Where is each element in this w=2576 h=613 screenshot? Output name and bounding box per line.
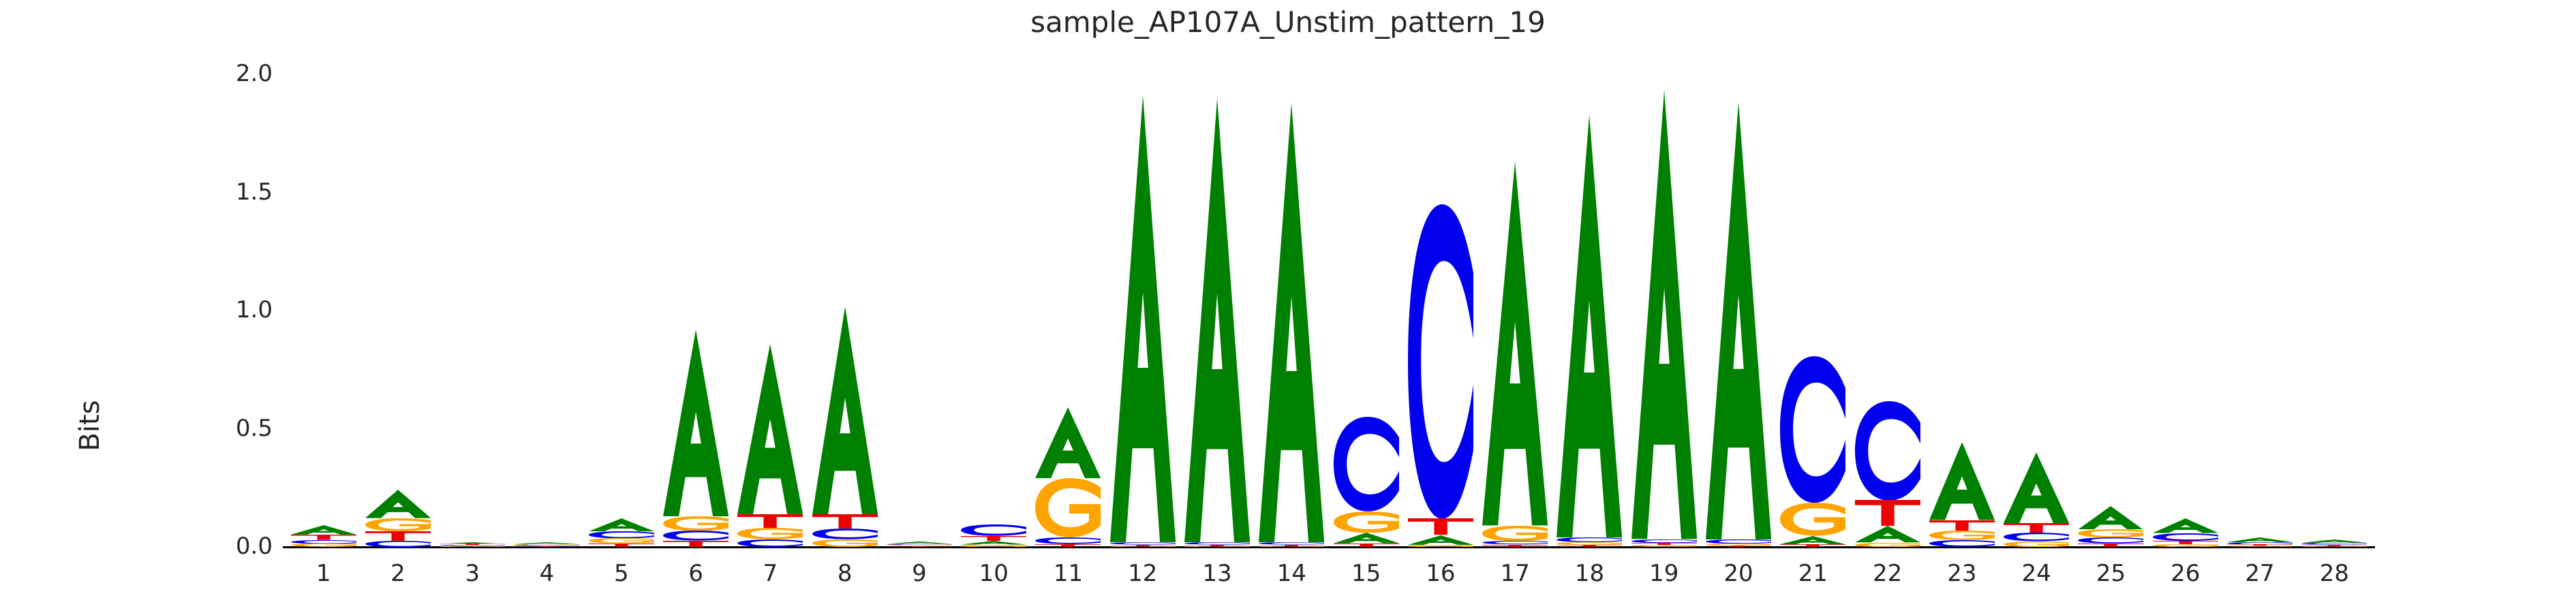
- logo-stack-position-28: [2301, 74, 2367, 547]
- y-axis-label-wrap: Bits: [102, 170, 170, 306]
- logo-letter-C: [1855, 401, 1920, 501]
- logo-letter-T: [1706, 546, 1771, 547]
- x-axis-tick-label: 13: [1202, 560, 1231, 587]
- logo-stack-position-7: [737, 74, 803, 547]
- logo-letter-C: [663, 531, 729, 541]
- logo-letter-A: [737, 344, 803, 514]
- y-axis-tick-label: 0.5: [236, 415, 273, 442]
- logo-letter-G: [2078, 529, 2143, 537]
- logo-letter-G: [291, 544, 356, 547]
- x-axis-tick-label: 9: [912, 560, 927, 587]
- logo-letter-A: [1408, 535, 1473, 545]
- logo-stack-position-4: [514, 74, 579, 547]
- x-axis-tick-label: 22: [1873, 560, 1902, 587]
- logo-letter-T: [1035, 544, 1101, 547]
- logo-stack-position-27: [2227, 74, 2293, 547]
- logo-stack-position-13: [1184, 74, 1250, 547]
- logo-letter-C: [1408, 204, 1473, 519]
- logo-letter-A: [1855, 526, 1920, 542]
- logo-letter-A: [1184, 98, 1250, 542]
- x-axis-tick-label: 6: [688, 560, 703, 587]
- x-axis-tick-label: 10: [979, 560, 1009, 587]
- logo-letter-G: [1259, 546, 1324, 547]
- x-axis-tick-label: 24: [2022, 560, 2051, 587]
- logo-letter-C: [1929, 540, 1995, 547]
- x-axis-tick-label: 8: [838, 560, 853, 587]
- logo-letter-C: [961, 524, 1026, 536]
- logo-stack-position-9: [887, 74, 952, 547]
- logo-letter-G: [1408, 545, 1473, 547]
- logo-letter-T: [887, 546, 952, 547]
- x-axis-tick-label: 16: [1426, 560, 1455, 587]
- logo-letter-A: [2004, 452, 2069, 523]
- y-axis-ticks: 0.00.51.01.52.0: [0, 0, 273, 613]
- logo-letter-A: [589, 518, 654, 531]
- logo-stack-position-24: [2004, 74, 2069, 547]
- logo-letter-G: [663, 516, 729, 531]
- x-axis-tick-label: 25: [2096, 560, 2126, 587]
- logo-letter-G: [2301, 546, 2367, 547]
- logo-letter-A: [2227, 537, 2293, 542]
- logo-letter-G: [1334, 512, 1399, 533]
- logo-stack-position-8: [812, 74, 878, 547]
- logo-letter-T: [663, 541, 729, 547]
- logo-letter-G: [1780, 503, 1845, 536]
- x-axis-tick-label: 1: [316, 560, 331, 587]
- logo-stack-position-6: [663, 74, 729, 547]
- logo-letter-T: [1855, 500, 1920, 526]
- logo-letter-G: [737, 528, 803, 539]
- x-axis-tick-label: 7: [763, 560, 778, 587]
- y-axis-tick-label: 1.5: [236, 178, 273, 206]
- logo-stack-position-3: [440, 74, 505, 547]
- logo-stack-position-18: [1557, 74, 1622, 547]
- logo-letter-C: [365, 541, 431, 547]
- x-axis-tick-label: 19: [1649, 560, 1678, 587]
- logo-letter-G: [2153, 544, 2218, 547]
- logo-letter-A: [1631, 90, 1697, 539]
- logo-letter-A: [291, 525, 356, 535]
- logo-letter-T: [961, 536, 1026, 541]
- logo-letter-A: [365, 490, 431, 518]
- y-axis-tick-label: 1.0: [236, 296, 273, 324]
- logo-stack-position-15: [1334, 74, 1399, 547]
- logo-letter-T: [514, 546, 579, 547]
- x-axis-tick-label: 2: [390, 560, 405, 587]
- logo-letter-T: [589, 544, 654, 547]
- logo-letter-T: [1929, 520, 1995, 531]
- logo-letter-A: [2153, 518, 2218, 533]
- logo-letter-A: [1334, 533, 1399, 544]
- x-axis-tick-label: 12: [1128, 560, 1157, 587]
- logo-stack-position-19: [1631, 74, 1697, 547]
- logo-letter-C: [2004, 533, 2069, 541]
- logo-letter-G: [365, 518, 431, 531]
- logo-stack-position-23: [1929, 74, 1995, 547]
- logo-letter-C: [2153, 533, 2218, 541]
- logo-stack-position-5: [589, 74, 654, 547]
- logo-letter-T: [1557, 545, 1622, 547]
- logo-letter-G: [1855, 543, 1920, 547]
- x-axis-tick-label: 26: [2171, 560, 2200, 587]
- logo-letter-A: [1482, 161, 1548, 525]
- x-axis-tick-label: 28: [2320, 560, 2349, 587]
- logo-letter-G: [961, 545, 1026, 547]
- logo-stack-position-12: [1110, 74, 1176, 547]
- logo-letter-T: [1334, 544, 1399, 547]
- x-axis-tick-label: 27: [2245, 560, 2274, 587]
- logo-letter-C: [2078, 537, 2143, 544]
- logo-letter-G: [1929, 531, 1995, 540]
- logo-letter-A: [1259, 103, 1324, 542]
- logo-letter-G: [1035, 478, 1101, 537]
- x-axis-tick-label: 21: [1798, 560, 1828, 587]
- logo-letter-A: [1557, 114, 1622, 537]
- logo-letter-C: [1780, 356, 1845, 503]
- x-axis-tick-label: 5: [614, 560, 629, 587]
- logo-letter-A: [1110, 95, 1176, 542]
- logo-letter-T: [737, 514, 803, 528]
- logo-stack-position-25: [2078, 74, 2143, 547]
- logo-stack-position-10: [961, 74, 1026, 547]
- logo-letter-G: [1184, 546, 1250, 547]
- logo-letter-T: [365, 531, 431, 541]
- logo-letter-C: [589, 531, 654, 538]
- x-axis-tick-label: 18: [1575, 560, 1604, 587]
- logo-letter-T: [291, 535, 356, 540]
- logo-letter-T: [2004, 523, 2069, 533]
- logo-letter-A: [812, 306, 878, 514]
- logo-stack-position-1: [291, 74, 356, 547]
- sequence-logo-figure: sample_AP107A_Unstim_pattern_19 0.00.51.…: [0, 0, 2576, 613]
- y-axis-tick-label: 2.0: [236, 60, 273, 87]
- logo-letter-A: [2078, 506, 2143, 530]
- x-axis-tick-label: 3: [465, 560, 480, 587]
- logo-stack-position-2: [365, 74, 431, 547]
- logo-letter-C: [1035, 537, 1101, 544]
- logo-letter-G: [2227, 546, 2293, 547]
- logo-stack-position-16: [1408, 74, 1473, 547]
- page-title: sample_AP107A_Unstim_pattern_19: [0, 5, 2576, 39]
- logo-letter-A: [1706, 102, 1771, 539]
- logo-stack-position-26: [2153, 74, 2218, 547]
- logo-letter-G: [1631, 545, 1697, 547]
- x-axis-tick-label: 14: [1277, 560, 1306, 587]
- logo-letter-A: [1035, 407, 1101, 478]
- logo-stack-position-14: [1259, 74, 1324, 547]
- logo-letter-T: [812, 514, 878, 529]
- x-axis-tick-label: 23: [1947, 560, 1976, 587]
- logo-letter-G: [440, 546, 505, 547]
- logo-letter-T: [1482, 545, 1548, 547]
- logo-plot-area: [286, 74, 2372, 547]
- logo-letter-G: [1110, 546, 1176, 547]
- logo-letter-A: [663, 330, 729, 516]
- logo-letter-G: [589, 538, 654, 544]
- logo-letter-A: [1929, 442, 1995, 520]
- x-axis-tick-label: 17: [1501, 560, 1530, 587]
- logo-letter-C: [812, 529, 878, 539]
- logo-letter-G: [1482, 526, 1548, 541]
- logo-letter-A: [1780, 536, 1845, 544]
- y-axis-tick-label: 0.0: [236, 533, 273, 560]
- logo-stack-position-20: [1706, 74, 1771, 547]
- x-axis-tick-label: 20: [1723, 560, 1753, 587]
- logo-letter-T: [1408, 518, 1473, 535]
- logo-letter-C: [1334, 417, 1399, 512]
- x-axis-tick-label: 11: [1054, 560, 1083, 587]
- logo-letter-T: [2078, 544, 2143, 547]
- logo-stack-position-22: [1855, 74, 1920, 547]
- x-axis-tick-label: 15: [1351, 560, 1381, 587]
- logo-stack-position-21: [1780, 74, 1845, 547]
- logo-stack-position-17: [1482, 74, 1548, 547]
- logo-stack-position-11: [1035, 74, 1101, 547]
- logo-letter-C: [1557, 537, 1622, 542]
- logo-letter-C: [737, 539, 803, 547]
- logo-letter-G: [812, 539, 878, 547]
- y-axis-label: Bits: [74, 289, 106, 562]
- logo-letter-T: [1780, 544, 1845, 547]
- logo-letter-G: [2004, 541, 2069, 547]
- x-axis-tick-label: 4: [540, 560, 555, 587]
